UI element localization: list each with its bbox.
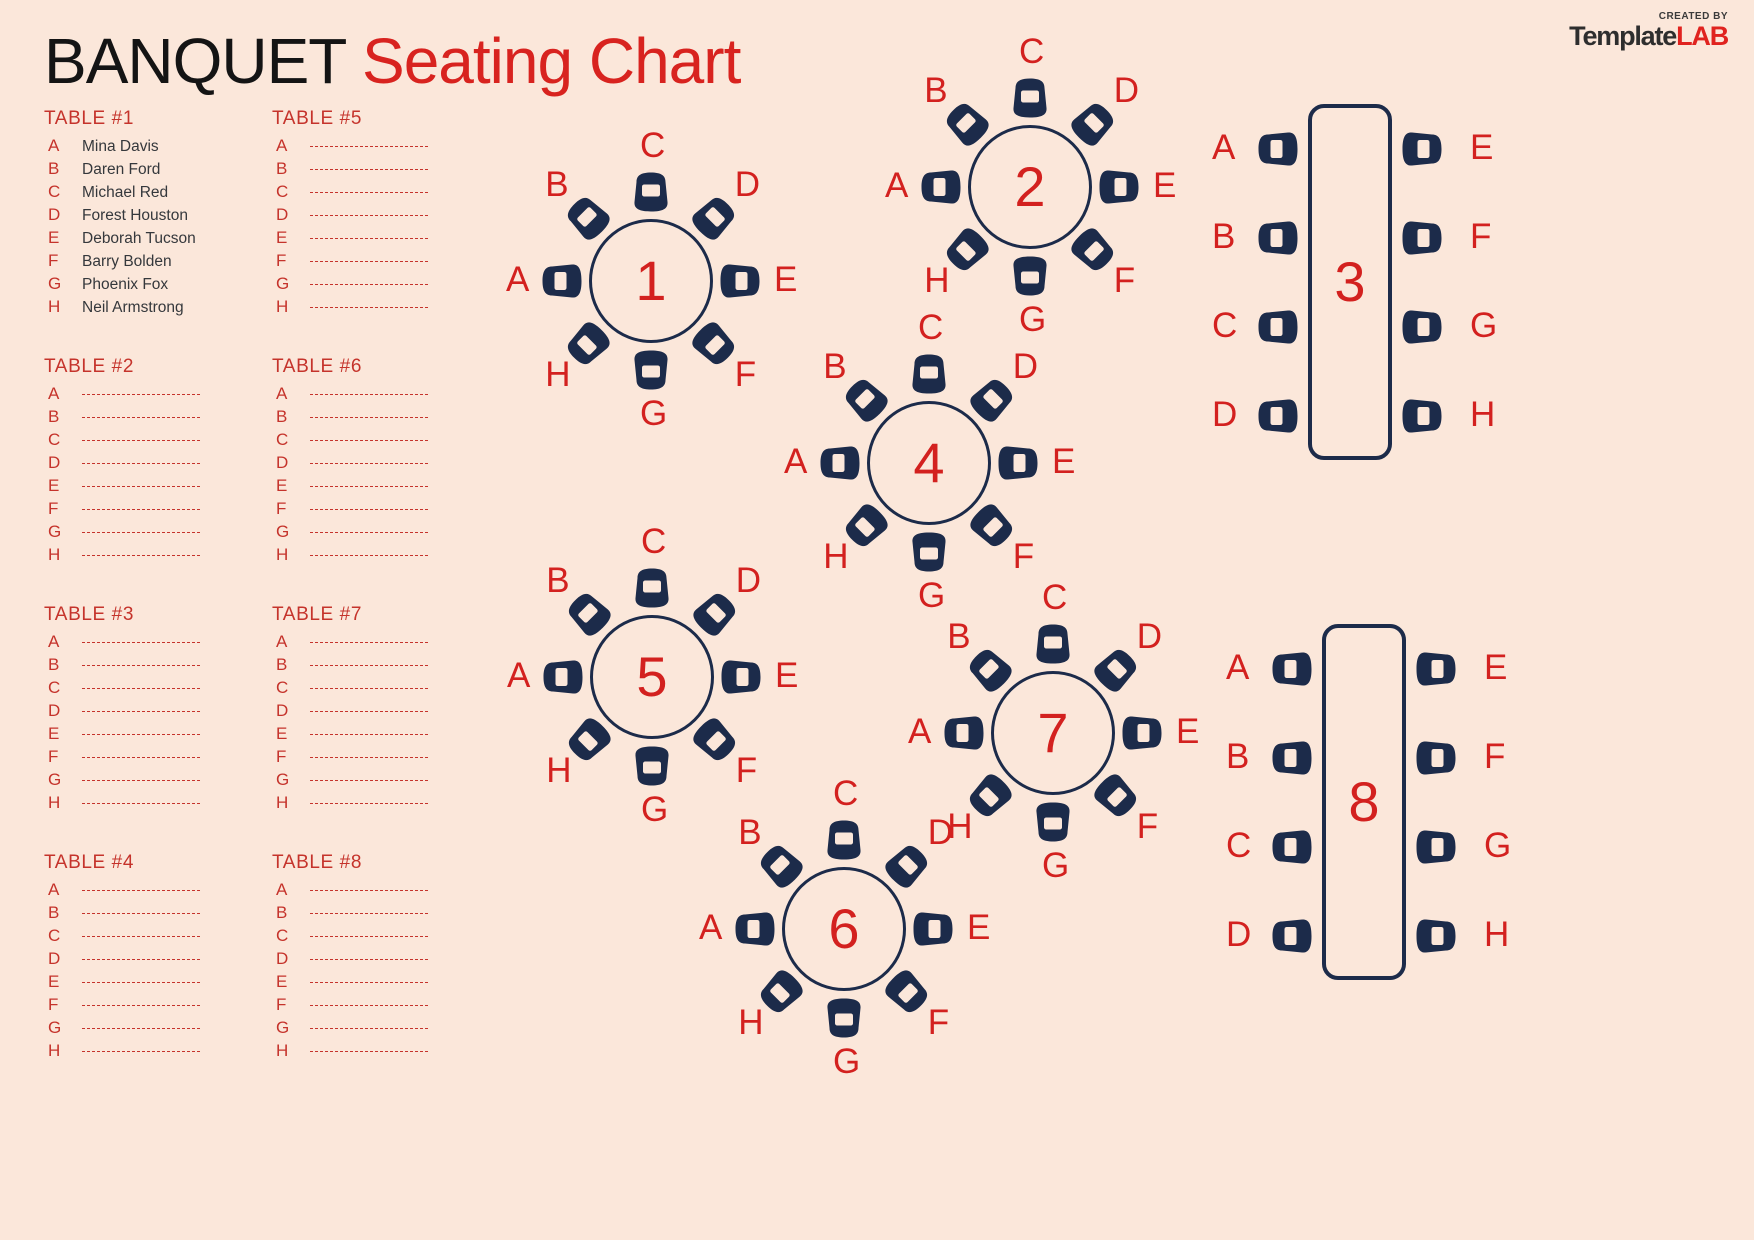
seat-b-table-8[interactable] xyxy=(1272,735,1312,781)
seat-label-b-table-8: B xyxy=(1226,739,1249,774)
seat-f-table-8[interactable] xyxy=(1416,735,1456,781)
seat-a-table-8[interactable] xyxy=(1272,646,1312,692)
seating-chart-canvas: BANQUET Seating Chart CREATED BY Templat… xyxy=(0,0,1754,1240)
seat-label-e-table-8: E xyxy=(1484,650,1507,685)
seat-c-table-8[interactable] xyxy=(1272,824,1312,870)
seat-label-d-table-8: D xyxy=(1226,917,1251,952)
seat-g-table-8[interactable] xyxy=(1416,824,1456,870)
seat-label-a-table-8: A xyxy=(1226,650,1249,685)
seat-label-f-table-8: F xyxy=(1484,739,1505,774)
seat-label-c-table-8: C xyxy=(1226,828,1251,863)
rect-table-number: 8 xyxy=(1322,624,1406,980)
rect-table-surface[interactable]: 8 xyxy=(1322,624,1406,980)
seat-label-h-table-8: H xyxy=(1484,917,1509,952)
seat-label-g-table-8: G xyxy=(1484,828,1511,863)
seat-e-table-8[interactable] xyxy=(1416,646,1456,692)
seat-d-table-8[interactable] xyxy=(1272,913,1312,959)
seat-h-table-8[interactable] xyxy=(1416,913,1456,959)
rect-table-8[interactable]: 8AEBFCGDH xyxy=(0,0,1754,1240)
